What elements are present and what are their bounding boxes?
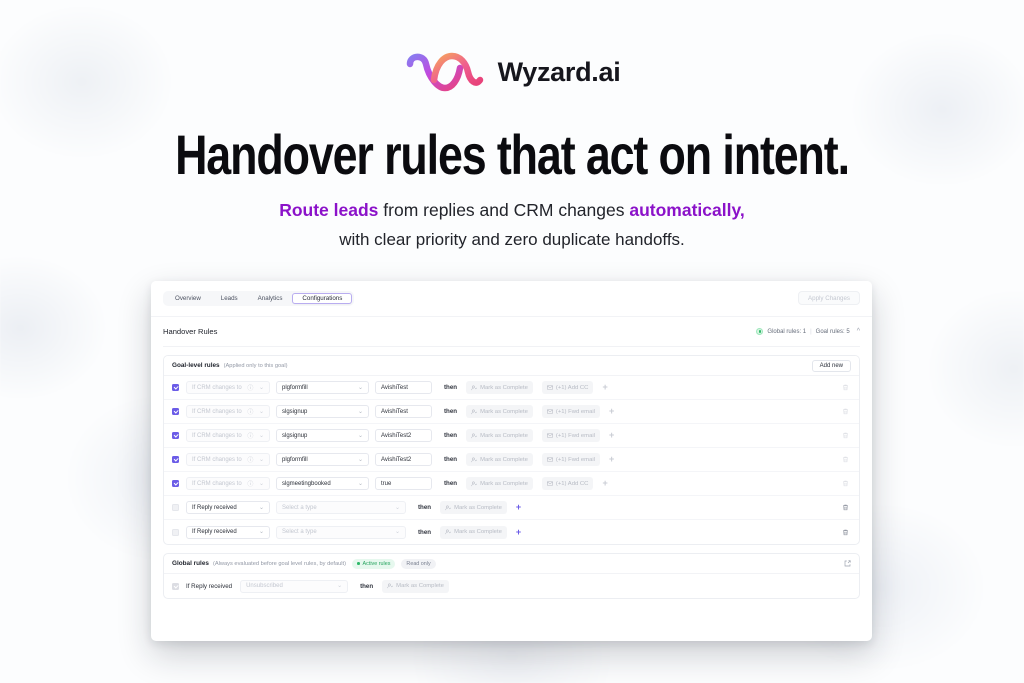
global-panel-subtitle: (Always evaluated before goal level rule… <box>213 561 346 567</box>
rule-action-label: Mark as Complete <box>480 481 528 487</box>
brand-logo: Wyzard.ai <box>0 50 1024 94</box>
rule-enable-checkbox[interactable] <box>172 408 179 415</box>
chevron-down-icon[interactable]: ⌄ <box>354 385 363 391</box>
global-rules-panel: Global rules (Always evaluated before go… <box>163 553 860 599</box>
chevron-down-icon[interactable]: ⌄ <box>255 505 264 511</box>
brand-name: Wyzard.ai <box>498 59 621 86</box>
rule-secondary-action-chip[interactable]: (+1) Fwd email <box>542 453 600 466</box>
then-label: then <box>418 504 431 511</box>
subhead-accent-2: automatically, <box>629 200 744 220</box>
chevron-down-icon[interactable]: ⌄ <box>255 529 264 535</box>
chevron-up-icon[interactable]: ^ <box>857 328 860 335</box>
rule-secondary-action-chip[interactable]: (+1) Fwd email <box>542 429 600 442</box>
info-icon[interactable]: ⓘ <box>243 479 253 488</box>
add-action-icon[interactable]: + <box>609 455 614 464</box>
global-then-label: then <box>360 583 373 590</box>
table-row: If Reply received⌄Select a type⌄thenMark… <box>164 496 859 520</box>
rule-value-text: AvishiTest <box>381 385 408 391</box>
app-top-bar: Overview Leads Analytics Configurations … <box>151 281 872 317</box>
goal-rules-list: If CRM changes toⓘ⌄plgformfill⌄AvishiTes… <box>164 376 859 544</box>
rule-type-placeholder: Select a type <box>282 505 317 511</box>
status-badge-active: Active rules <box>352 559 395 569</box>
add-action-icon[interactable]: + <box>609 431 614 440</box>
app-screenshot-card: Overview Leads Analytics Configurations … <box>151 281 872 641</box>
rule-trigger-label: If CRM changes to <box>192 481 242 487</box>
rule-trigger-label: If Reply received <box>192 529 237 535</box>
global-rule-action-chip: Mark as Complete <box>382 580 449 593</box>
rule-type-placeholder: Select a type <box>282 529 317 535</box>
subhead-line-2: with clear priority and zero duplicate h… <box>0 225 1024 254</box>
rule-type-select[interactable]: Select a type⌄ <box>276 501 406 514</box>
goal-level-rules-panel: Goal-level rules (Applied only to this g… <box>163 355 860 545</box>
rule-action-label: Mark as Complete <box>480 433 528 439</box>
table-row: If CRM changes toⓘ⌄slgmeetingbooked⌄true… <box>164 472 859 496</box>
rule-field-select[interactable]: plgformfill⌄ <box>276 381 369 394</box>
tab-configurations[interactable]: Configurations <box>292 293 352 304</box>
rule-secondary-action-chip[interactable]: (+1) Add CC <box>542 381 594 394</box>
rule-action-label: Mark as Complete <box>480 385 528 391</box>
delete-rule-icon[interactable] <box>842 408 849 415</box>
chevron-down-icon[interactable]: ⌄ <box>391 529 400 535</box>
rule-secondary-action-label: (+1) Fwd email <box>556 457 595 463</box>
rule-value-input[interactable]: AvishiTest <box>375 405 432 418</box>
rule-trigger-label: If CRM changes to <box>192 385 242 391</box>
global-panel-header: Global rules (Always evaluated before go… <box>164 554 859 574</box>
global-rules-count: Global rules: 1 <box>767 329 806 335</box>
global-rule-trigger: If Reply received <box>186 583 232 590</box>
rule-value-input[interactable]: AvishiTest2 <box>375 453 432 466</box>
rule-secondary-action-chip[interactable]: (+1) Fwd email <box>542 405 600 418</box>
then-label: then <box>444 456 457 463</box>
rule-secondary-action-label: (+1) Fwd email <box>556 409 595 415</box>
rule-value-text: true <box>381 481 391 487</box>
table-row: If CRM changes toⓘ⌄plgformfill⌄AvishiTes… <box>164 448 859 472</box>
chevron-down-icon[interactable]: ⌄ <box>255 409 264 415</box>
rule-value-input[interactable]: AvishiTest2 <box>375 429 432 442</box>
rule-field-select[interactable]: plgformfill⌄ <box>276 453 369 466</box>
delete-rule-icon[interactable] <box>842 504 849 511</box>
hero-headline: Handover rules that act on intent. <box>102 122 921 187</box>
rules-count-meta: Global rules: 1 | Goal rules: 5 ^ <box>756 328 860 335</box>
delete-rule-icon[interactable] <box>842 456 849 463</box>
rule-action-label: Mark as Complete <box>454 529 502 535</box>
tab-analytics[interactable]: Analytics <box>248 293 293 304</box>
rule-field-select[interactable]: slgsignup⌄ <box>276 429 369 442</box>
info-icon[interactable]: ⓘ <box>243 455 253 464</box>
rule-action-label: Mark as Complete <box>480 457 528 463</box>
hero-subheading: Route leads from replies and CRM changes… <box>0 196 1024 254</box>
global-rule-field-select: Unsubscribed⌄ <box>240 580 348 593</box>
info-icon[interactable]: ⓘ <box>243 407 253 416</box>
rule-field-select[interactable]: slgsignup⌄ <box>276 405 369 418</box>
rule-enable-checkbox[interactable] <box>172 529 179 536</box>
rule-trigger-label: If Reply received <box>192 505 237 511</box>
add-action-icon[interactable]: + <box>609 407 614 416</box>
table-row: If CRM changes toⓘ⌄slgsignup⌄AvishiTestt… <box>164 400 859 424</box>
edit-square-icon[interactable] <box>844 560 851 567</box>
delete-rule-icon[interactable] <box>842 529 849 536</box>
global-rule-row: If Reply received Unsubscribed⌄ then Mar… <box>164 574 859 598</box>
rule-trigger-select[interactable]: If CRM changes toⓘ⌄ <box>186 477 270 490</box>
rule-action-chip[interactable]: Mark as Complete <box>466 453 533 466</box>
then-label: then <box>444 408 457 415</box>
rule-trigger-select[interactable]: If CRM changes toⓘ⌄ <box>186 429 270 442</box>
delete-rule-icon[interactable] <box>842 480 849 487</box>
rule-action-chip[interactable]: Mark as Complete <box>440 526 507 539</box>
chevron-down-icon[interactable]: ⌄ <box>255 433 264 439</box>
chevron-down-icon[interactable]: ⌄ <box>354 481 363 487</box>
rule-trigger-label: If CRM changes to <box>192 433 242 439</box>
tab-overview[interactable]: Overview <box>165 293 211 304</box>
chevron-down-icon[interactable]: ⌄ <box>391 505 400 511</box>
rule-type-select[interactable]: Select a type⌄ <box>276 526 406 539</box>
subhead-mid: from replies and CRM changes <box>378 200 629 220</box>
rule-action-label: Mark as Complete <box>454 505 502 511</box>
rule-action-chip[interactable]: Mark as Complete <box>440 501 507 514</box>
page-title: Handover Rules <box>163 327 217 336</box>
rule-field-label: slgsignup <box>282 433 307 439</box>
rule-enable-checkbox[interactable] <box>172 504 179 511</box>
rule-trigger-select[interactable]: If Reply received⌄ <box>186 526 270 539</box>
rule-action-chip[interactable]: Mark as Complete <box>466 405 533 418</box>
table-row: If CRM changes toⓘ⌄plgformfill⌄AvishiTes… <box>164 376 859 400</box>
rule-trigger-select[interactable]: If CRM changes toⓘ⌄ <box>186 381 270 394</box>
rule-enable-checkbox[interactable] <box>172 432 179 439</box>
goal-panel-header: Goal-level rules (Applied only to this g… <box>164 356 859 376</box>
add-action-icon[interactable]: + <box>602 479 607 488</box>
tab-bar: Overview Leads Analytics Configurations <box>163 291 354 306</box>
info-icon[interactable]: ⓘ <box>243 383 253 392</box>
goal-panel-title: Goal-level rules <box>172 362 220 369</box>
global-rule-checkbox <box>172 583 179 590</box>
add-new-rule-button[interactable]: Add new <box>812 360 851 372</box>
add-action-icon[interactable]: + <box>516 528 521 537</box>
rule-secondary-action-label: (+1) Fwd email <box>556 433 595 439</box>
global-panel-title: Global rules <box>172 560 209 567</box>
tab-leads[interactable]: Leads <box>211 293 248 304</box>
rule-value-input[interactable]: AvishiTest <box>375 381 432 394</box>
rule-value-text: AvishiTest <box>381 409 408 415</box>
add-action-icon[interactable]: + <box>602 383 607 392</box>
rule-trigger-label: If CRM changes to <box>192 409 242 415</box>
then-label: then <box>444 480 457 487</box>
apply-changes-button[interactable]: Apply Changes <box>798 291 860 305</box>
rule-secondary-action-chip[interactable]: (+1) Add CC <box>542 477 594 490</box>
chevron-down-icon[interactable]: ⌄ <box>354 409 363 415</box>
chevron-down-icon[interactable]: ⌄ <box>255 481 264 487</box>
wyzard-wave-logo-icon <box>404 50 486 94</box>
then-label: then <box>444 384 457 391</box>
rule-action-chip[interactable]: Mark as Complete <box>466 381 533 394</box>
chevron-down-icon[interactable]: ⌄ <box>255 457 264 463</box>
subhead-accent-1: Route leads <box>279 200 378 220</box>
rule-action-chip[interactable]: Mark as Complete <box>466 429 533 442</box>
table-row: If Reply received⌄Select a type⌄thenMark… <box>164 520 859 544</box>
rule-field-label: plgformfill <box>282 457 308 463</box>
table-row: If CRM changes toⓘ⌄slgsignup⌄AvishiTest2… <box>164 424 859 448</box>
rule-enable-checkbox[interactable] <box>172 480 179 487</box>
then-label: then <box>418 529 431 536</box>
delete-rule-icon[interactable] <box>842 432 849 439</box>
rule-field-label: plgformfill <box>282 385 308 391</box>
handover-rules-header: Handover Rules Global rules: 1 | Goal ru… <box>163 317 860 347</box>
meta-separator: | <box>810 329 812 335</box>
rule-trigger-label: If CRM changes to <box>192 457 242 463</box>
rule-value-text: AvishiTest2 <box>381 433 411 439</box>
goal-rules-count: Goal rules: 5 <box>816 329 850 335</box>
rule-trigger-select[interactable]: If Reply received⌄ <box>186 501 270 514</box>
rule-enable-checkbox[interactable] <box>172 384 179 391</box>
rule-action-label: Mark as Complete <box>480 409 528 415</box>
chevron-down-icon[interactable]: ⌄ <box>255 385 264 391</box>
rule-secondary-action-label: (+1) Add CC <box>556 481 589 487</box>
rule-secondary-action-label: (+1) Add CC <box>556 385 589 391</box>
rule-field-label: slgmeetingbooked <box>282 481 331 487</box>
green-status-dot-icon <box>756 328 763 335</box>
rule-enable-checkbox[interactable] <box>172 456 179 463</box>
rule-action-chip[interactable]: Mark as Complete <box>466 477 533 490</box>
rule-field-label: slgsignup <box>282 409 307 415</box>
chevron-down-icon[interactable]: ⌄ <box>354 433 363 439</box>
chevron-down-icon[interactable]: ⌄ <box>354 457 363 463</box>
add-action-icon[interactable]: + <box>516 503 521 512</box>
rule-value-text: AvishiTest2 <box>381 457 411 463</box>
delete-rule-icon[interactable] <box>842 384 849 391</box>
then-label: then <box>444 432 457 439</box>
rule-field-select[interactable]: slgmeetingbooked⌄ <box>276 477 369 490</box>
info-icon[interactable]: ⓘ <box>243 431 253 440</box>
rule-value-input[interactable]: true <box>375 477 432 490</box>
rule-trigger-select[interactable]: If CRM changes toⓘ⌄ <box>186 453 270 466</box>
status-badge-readonly: Read only <box>401 559 435 569</box>
rule-trigger-select[interactable]: If CRM changes toⓘ⌄ <box>186 405 270 418</box>
goal-panel-subtitle: (Applied only to this goal) <box>224 363 288 369</box>
